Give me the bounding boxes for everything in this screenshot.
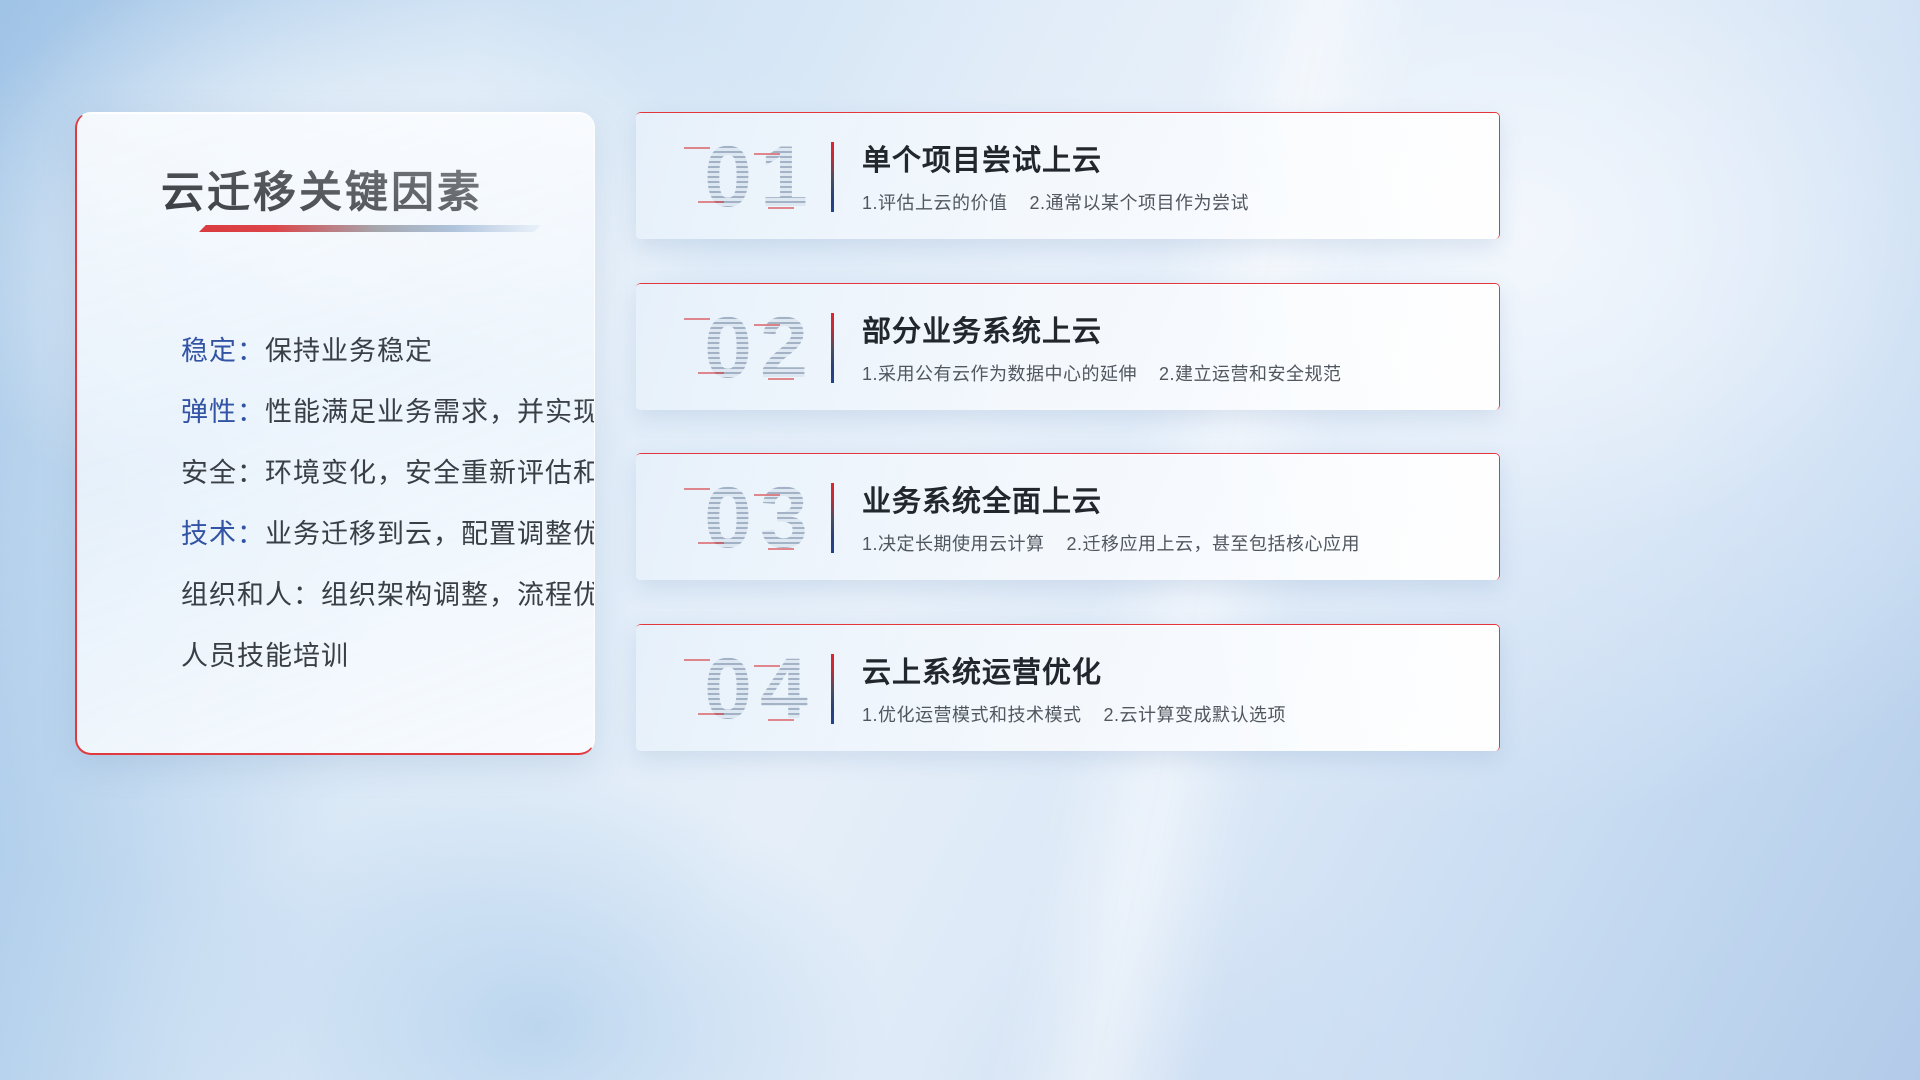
card-description-item-1: 1.优化运营模式和技术模式	[862, 705, 1082, 725]
card-description: 1.优化运营模式和技术模式2.云计算变成默认选项	[862, 701, 1286, 727]
card-title: 部分业务系统上云	[862, 308, 1102, 350]
card-description: 1.决定长期使用云计算2.迁移应用上云，甚至包括核心应用	[862, 530, 1360, 556]
stage-number-accent-line	[698, 713, 724, 715]
card-accent-divider	[831, 483, 834, 553]
stage-number: 04	[660, 633, 860, 745]
stage-card[interactable]: 0202部分业务系统上云1.采用公有云作为数据中心的延伸2.建立运营和安全规范	[636, 283, 1500, 410]
factor-text: 性能满足业务需求，并实现弹性	[265, 397, 595, 427]
card-title: 单个项目尝试上云	[862, 137, 1102, 179]
factor-key: 安全：	[181, 458, 265, 488]
stage-number-accent-line	[684, 488, 710, 490]
stage-number-accent-line	[684, 659, 710, 661]
stage-number-accent-line	[768, 548, 794, 550]
factor-text: 组织架构调整，流程优化，	[321, 580, 595, 610]
factor-key: 组织和人：	[181, 580, 321, 610]
card-title: 云上系统运营优化	[862, 649, 1102, 691]
card-description-item-2: 2.云计算变成默认选项	[1104, 705, 1287, 725]
factor-list: 稳定：保持业务稳定弹性：性能满足业务需求，并实现弹性安全：环境变化，安全重新评估…	[181, 321, 566, 687]
card-accent-divider	[831, 654, 834, 724]
card-description-item-2: 2.通常以某个项目作为尝试	[1030, 193, 1250, 213]
factor-item: 弹性：性能满足业务需求，并实现弹性	[181, 382, 566, 443]
stage-number-accent-line	[754, 153, 780, 155]
stage-number: 02	[660, 292, 860, 404]
factor-key: 弹性：	[181, 397, 265, 427]
stage-card[interactable]: 0404云上系统运营优化1.优化运营模式和技术模式2.云计算变成默认选项	[636, 624, 1500, 751]
stage-number-accent-line	[684, 147, 710, 149]
card-accent-divider	[831, 142, 834, 212]
factor-item: 组织和人：组织架构调整，流程优化，	[181, 565, 566, 626]
factor-item: 安全：环境变化，安全重新评估和评审	[181, 443, 566, 504]
card-description-item-1: 1.评估上云的价值	[862, 193, 1008, 213]
factor-key: 技术：	[181, 519, 265, 549]
stage-number-accent-line	[698, 542, 724, 544]
card-title: 业务系统全面上云	[862, 478, 1102, 520]
stage-number-accent-line	[768, 207, 794, 209]
stage-number-accent-line	[754, 494, 780, 496]
factor-item: 人员技能培训	[181, 626, 566, 687]
stage-number-accent-line	[698, 372, 724, 374]
slide-stage: 云迁移关键因素 稳定：保持业务稳定弹性：性能满足业务需求，并实现弹性安全：环境变…	[0, 0, 1920, 1080]
card-description-item-2: 2.迁移应用上云，甚至包括核心应用	[1067, 534, 1361, 554]
card-description: 1.采用公有云作为数据中心的延伸2.建立运营和安全规范	[862, 360, 1342, 386]
stage-number-accent-line	[768, 378, 794, 380]
card-description-item-2: 2.建立运营和安全规范	[1159, 364, 1342, 384]
title-underline-rule	[199, 225, 541, 232]
stage-card[interactable]: 0101单个项目尝试上云1.评估上云的价值2.通常以某个项目作为尝试	[636, 112, 1500, 239]
factor-key: 稳定：	[181, 336, 265, 366]
stage-number-accent-line	[684, 318, 710, 320]
stage-number-accent-line	[754, 665, 780, 667]
stage-card[interactable]: 0303业务系统全面上云1.决定长期使用云计算2.迁移应用上云，甚至包括核心应用	[636, 453, 1500, 580]
stage-number-accent-line	[754, 324, 780, 326]
card-description-item-1: 1.采用公有云作为数据中心的延伸	[862, 364, 1137, 384]
card-description-item-1: 1.决定长期使用云计算	[862, 534, 1045, 554]
factor-text: 环境变化，安全重新评估和评审	[265, 458, 595, 488]
card-description: 1.评估上云的价值2.通常以某个项目作为尝试	[862, 189, 1249, 215]
stage-number: 01	[660, 121, 860, 233]
stage-number: 03	[660, 462, 860, 574]
key-factors-panel: 云迁移关键因素 稳定：保持业务稳定弹性：性能满足业务需求，并实现弹性安全：环境变…	[75, 112, 595, 755]
factor-item: 稳定：保持业务稳定	[181, 321, 566, 382]
stage-number-accent-line	[768, 719, 794, 721]
factor-text: 保持业务稳定	[265, 336, 433, 366]
factor-item: 技术：业务迁移到云，配置调整优化	[181, 504, 566, 565]
factor-text: 人员技能培训	[181, 641, 349, 671]
stage-number-accent-line	[698, 201, 724, 203]
page-title: 云迁移关键因素	[161, 158, 483, 220]
factor-text: 业务迁移到云，配置调整优化	[265, 519, 595, 549]
card-accent-divider	[831, 313, 834, 383]
